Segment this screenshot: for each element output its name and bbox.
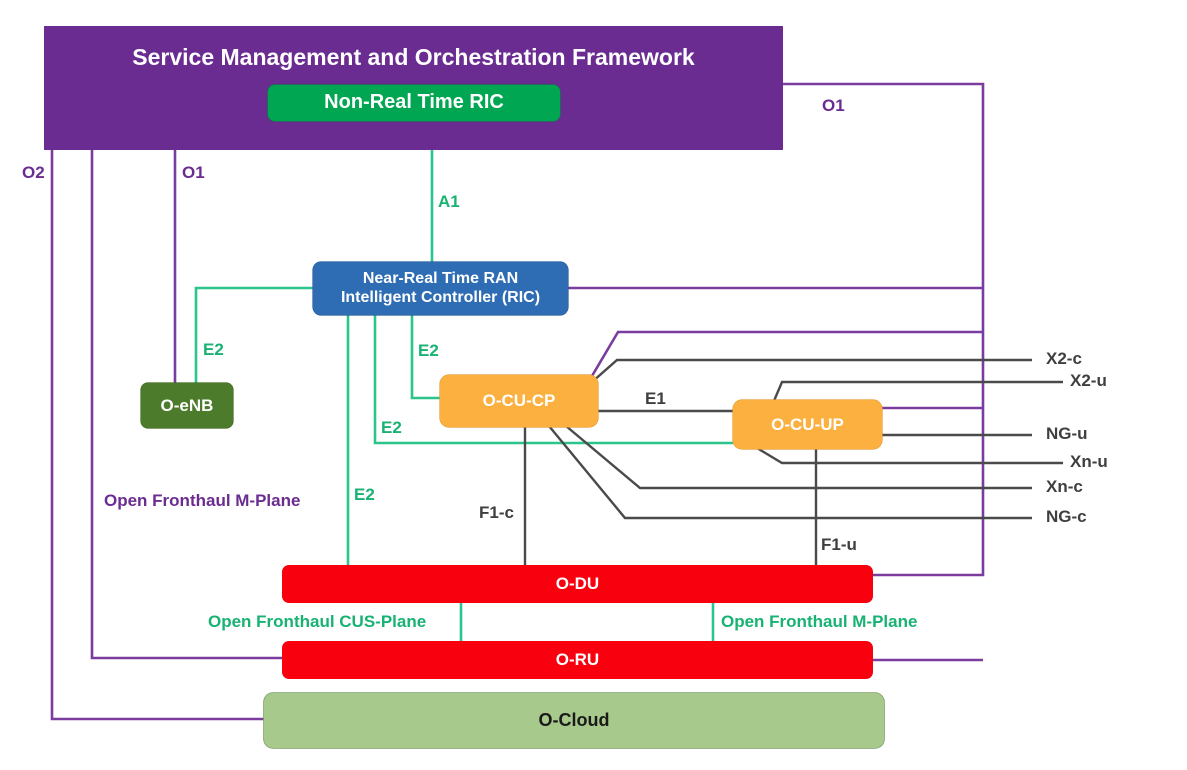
node-non-rt-ric-label: Non-Real Time RIC bbox=[324, 91, 504, 114]
wire-xnu-from-ocuup bbox=[757, 448, 1063, 463]
label-ng-u: NG-u bbox=[1046, 424, 1088, 444]
label-e2-ocucp: E2 bbox=[418, 341, 439, 361]
label-f1-u: F1-u bbox=[821, 535, 857, 555]
label-e1: E1 bbox=[645, 389, 666, 409]
label-ng-c: NG-c bbox=[1046, 507, 1087, 527]
wire-e2-nearrt-to-oenb bbox=[196, 288, 313, 383]
node-near-rt-ric-label-line2: Intelligent Controller (RIC) bbox=[341, 289, 540, 308]
node-smo-label: Service Management and Orchestration Fra… bbox=[132, 44, 694, 71]
node-o-cloud[interactable]: O-Cloud bbox=[264, 693, 884, 748]
label-e2-oenb: E2 bbox=[203, 340, 224, 360]
node-o-ru-label: O-RU bbox=[556, 650, 599, 670]
label-xn-c: Xn-c bbox=[1046, 477, 1083, 497]
node-o-enb-label: O-eNB bbox=[161, 396, 214, 416]
label-x2-u: X2-u bbox=[1070, 371, 1107, 391]
label-open-fronthaul-m-plane-right: Open Fronthaul M-Plane bbox=[721, 612, 917, 632]
label-open-fronthaul-cus-plane: Open Fronthaul CUS-Plane bbox=[208, 612, 426, 632]
wire-x2c-from-ocucp bbox=[592, 360, 1032, 382]
oran-architecture-diagram: Service Management and Orchestration Fra… bbox=[0, 0, 1187, 770]
node-o-cu-cp-label: O-CU-CP bbox=[483, 391, 556, 411]
node-o-enb[interactable]: O-eNB bbox=[141, 383, 233, 428]
label-o1-left: O1 bbox=[182, 163, 205, 183]
node-o-ru[interactable]: O-RU bbox=[282, 641, 873, 679]
node-o-cu-cp[interactable]: O-CU-CP bbox=[440, 375, 598, 427]
wire-o1-right-trunk bbox=[783, 84, 983, 575]
label-e2-ocuup: E2 bbox=[381, 418, 402, 438]
node-o-cu-up[interactable]: O-CU-UP bbox=[733, 400, 882, 449]
label-o2: O2 bbox=[22, 163, 45, 183]
node-near-rt-ric[interactable]: Near-Real Time RAN Intelligent Controlle… bbox=[313, 262, 568, 315]
node-o-du-label: O-DU bbox=[556, 574, 599, 594]
label-e2-odu: E2 bbox=[354, 485, 375, 505]
label-x2-c: X2-c bbox=[1046, 349, 1082, 369]
label-a1: A1 bbox=[438, 192, 460, 212]
label-f1-c: F1-c bbox=[479, 503, 514, 523]
node-o-du[interactable]: O-DU bbox=[282, 565, 873, 603]
label-xn-u: Xn-u bbox=[1070, 452, 1108, 472]
wire-o1-ocucp-to-trunk bbox=[592, 332, 983, 376]
node-o-cloud-label: O-Cloud bbox=[539, 710, 610, 731]
node-non-rt-ric[interactable]: Non-Real Time RIC bbox=[268, 85, 560, 121]
node-o-cu-up-label: O-CU-UP bbox=[771, 415, 844, 435]
node-near-rt-ric-label-line1: Near-Real Time RAN bbox=[363, 270, 518, 289]
wire-o2-smo-to-ocloud bbox=[52, 150, 264, 719]
label-open-fronthaul-m-plane-left: Open Fronthaul M-Plane bbox=[104, 491, 300, 511]
label-o1-right: O1 bbox=[822, 96, 845, 116]
